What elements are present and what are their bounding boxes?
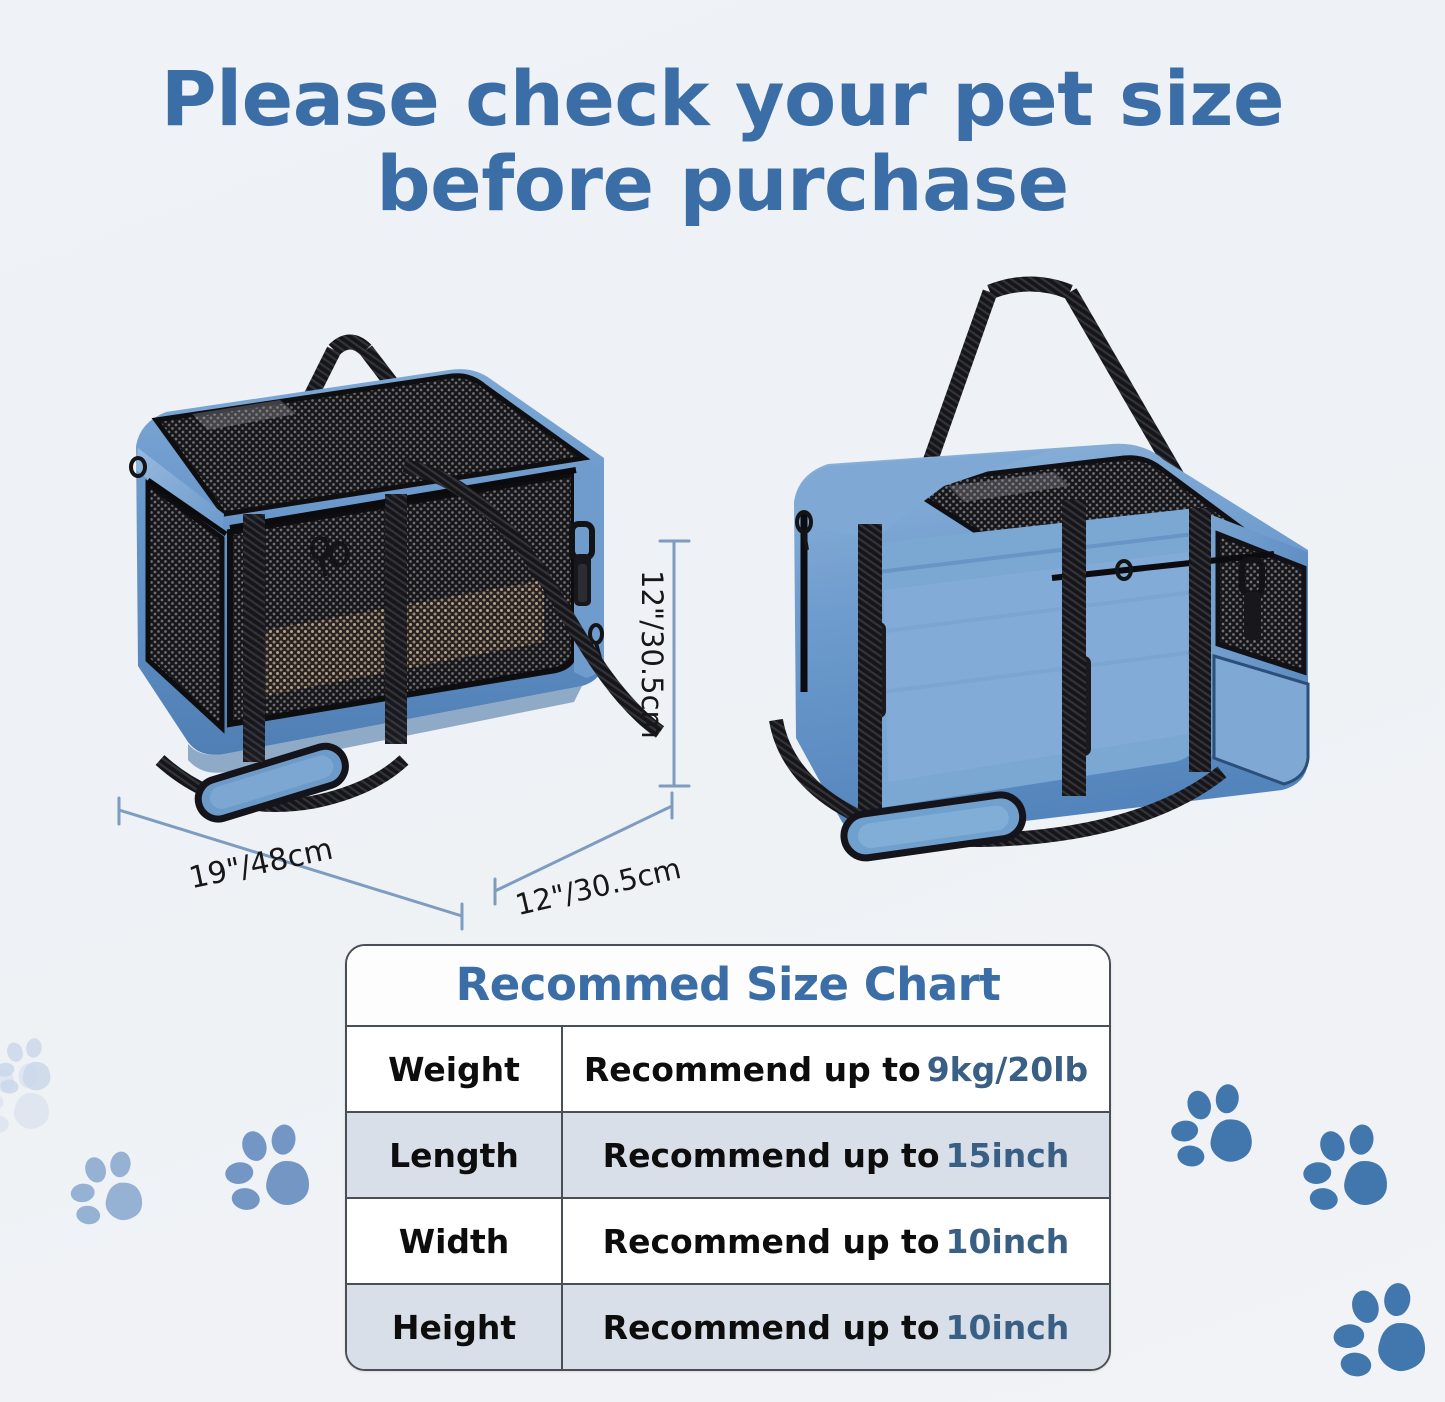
table-row: Length Recommend up to 15inch xyxy=(347,1113,1109,1199)
size-chart-prefix-length: Recommend up to xyxy=(603,1136,940,1175)
size-chart-label-height: Height xyxy=(347,1285,563,1369)
product-image-left-carrier xyxy=(104,262,684,842)
infographic-page: Please check your pet size before purcha… xyxy=(0,0,1445,1402)
page-title-line-2: before purchase xyxy=(0,141,1445,226)
paw-print-icon xyxy=(1300,1118,1408,1226)
size-chart-value-length: Recommend up to 15inch xyxy=(563,1113,1109,1197)
size-chart-title: Recommed Size Chart xyxy=(347,946,1109,1027)
size-chart-highlight-length: 15inch xyxy=(946,1136,1070,1175)
size-chart-prefix-width: Recommend up to xyxy=(603,1222,940,1261)
page-title-line-1: Please check your pet size xyxy=(0,56,1445,141)
size-chart-value-width: Recommend up to 10inch xyxy=(563,1199,1109,1283)
size-chart-highlight-width: 10inch xyxy=(946,1222,1070,1261)
paw-print-icon xyxy=(0,1058,66,1146)
size-chart-value-height: Recommend up to 10inch xyxy=(563,1285,1109,1369)
table-row: Width Recommend up to 10inch xyxy=(347,1199,1109,1285)
table-row: Weight Recommend up to 9kg/20lb xyxy=(347,1027,1109,1113)
paw-print-icon xyxy=(1168,1078,1272,1182)
paw-print-icon xyxy=(0,1034,64,1104)
paw-print-icon xyxy=(222,1118,330,1226)
size-chart-highlight-weight: 9kg/20lb xyxy=(927,1050,1088,1089)
product-image-right-carrier xyxy=(752,272,1372,872)
size-chart-highlight-height: 10inch xyxy=(946,1308,1070,1347)
size-chart-label-length: Length xyxy=(347,1113,563,1197)
recommended-size-chart: Recommed Size Chart Weight Recommend up … xyxy=(345,944,1111,1371)
paw-print-icon xyxy=(68,1146,160,1238)
size-chart-label-width: Width xyxy=(347,1199,563,1283)
size-chart-prefix-height: Recommend up to xyxy=(603,1308,940,1347)
table-row: Height Recommend up to 10inch xyxy=(347,1285,1109,1369)
size-chart-prefix-weight: Recommend up to xyxy=(584,1050,921,1089)
page-title: Please check your pet size before purcha… xyxy=(0,56,1445,226)
size-chart-label-weight: Weight xyxy=(347,1027,563,1111)
size-chart-value-weight: Recommend up to 9kg/20lb xyxy=(563,1027,1109,1111)
dimension-label-height: 12"/30.5cm xyxy=(635,570,669,739)
dimension-label-width: 12"/30.5cm xyxy=(512,851,684,922)
paw-print-icon xyxy=(1330,1276,1445,1394)
